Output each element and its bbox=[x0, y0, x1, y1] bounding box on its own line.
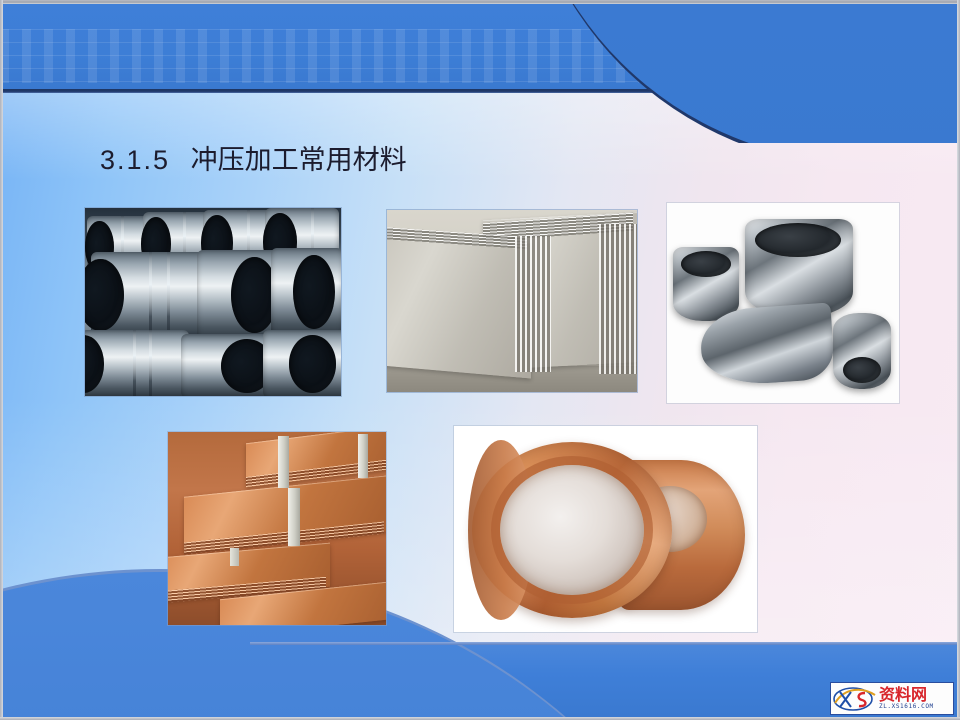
steel-plate-stack-photo-inner bbox=[387, 210, 637, 392]
steel-coil-bore bbox=[85, 259, 124, 331]
watermark-brand-url: ZL.XS1616.COM bbox=[879, 703, 951, 711]
copper-coil-rolls-photo-inner bbox=[454, 426, 757, 632]
copper-coil-rolls-photo bbox=[454, 426, 757, 632]
rack-post bbox=[358, 434, 368, 478]
steel-foil-core bbox=[755, 223, 841, 257]
copper-coil-roll-primary bbox=[472, 442, 672, 618]
steel-coil-strap bbox=[149, 330, 152, 396]
steel-foil-roll bbox=[673, 247, 739, 321]
steel-coil bbox=[263, 330, 341, 396]
copper-coil-bore bbox=[500, 465, 644, 595]
rack-post bbox=[278, 436, 289, 488]
steel-plate-stack-photo bbox=[387, 210, 637, 392]
steel-coil-strap bbox=[149, 252, 152, 338]
steel-plate-edge-bundle bbox=[515, 236, 551, 372]
steel-coil-bore bbox=[85, 335, 104, 392]
stainless-steel-foil-rolls-photo-inner bbox=[667, 203, 899, 403]
slide-frame-top bbox=[0, 0, 960, 4]
xs-monogram-icon bbox=[831, 683, 879, 714]
rack-post bbox=[230, 548, 239, 566]
stainless-steel-foil-rolls-photo bbox=[667, 203, 899, 403]
steel-foil-core bbox=[681, 251, 731, 277]
steel-coil-primary bbox=[91, 252, 209, 338]
steel-plate-edge-bundle bbox=[599, 224, 637, 374]
steel-coil bbox=[271, 248, 341, 336]
steel-coil-bore bbox=[289, 335, 336, 392]
page-title-text: 冲压加工常用材料 bbox=[191, 145, 407, 175]
steel-foil-roll bbox=[745, 219, 853, 317]
steel-foil-roll bbox=[833, 313, 891, 389]
watermark-logo: 资料网 ZL.XS1616.COM bbox=[830, 682, 954, 715]
page-title: 3.1.5 冲压加工常用材料 bbox=[100, 138, 407, 177]
header-band bbox=[0, 3, 960, 143]
steel-coil-bore bbox=[293, 255, 335, 329]
slide-frame-left bbox=[0, 0, 3, 720]
steel-coil bbox=[85, 330, 189, 396]
page-title-number: 3.1.5 bbox=[100, 145, 170, 175]
rack-post bbox=[288, 488, 300, 546]
steel-plate-slab bbox=[387, 229, 531, 378]
watermark-text-block: 资料网 ZL.XS1616.COM bbox=[879, 687, 953, 711]
steel-coil-stack-photo bbox=[85, 208, 341, 396]
steel-coil-stack-photo-inner bbox=[85, 208, 341, 396]
steel-coil-strap bbox=[133, 330, 136, 396]
slide-canvas: 3.1.5 冲压加工常用材料 bbox=[0, 0, 960, 720]
copper-plate-stack-photo-inner bbox=[168, 432, 386, 625]
steel-coil-strap bbox=[167, 252, 170, 338]
footer-band-rule bbox=[250, 642, 960, 645]
steel-foil-core bbox=[843, 357, 881, 383]
watermark-brand: 资料网 bbox=[879, 687, 951, 703]
copper-plate-stack-photo bbox=[168, 432, 386, 625]
